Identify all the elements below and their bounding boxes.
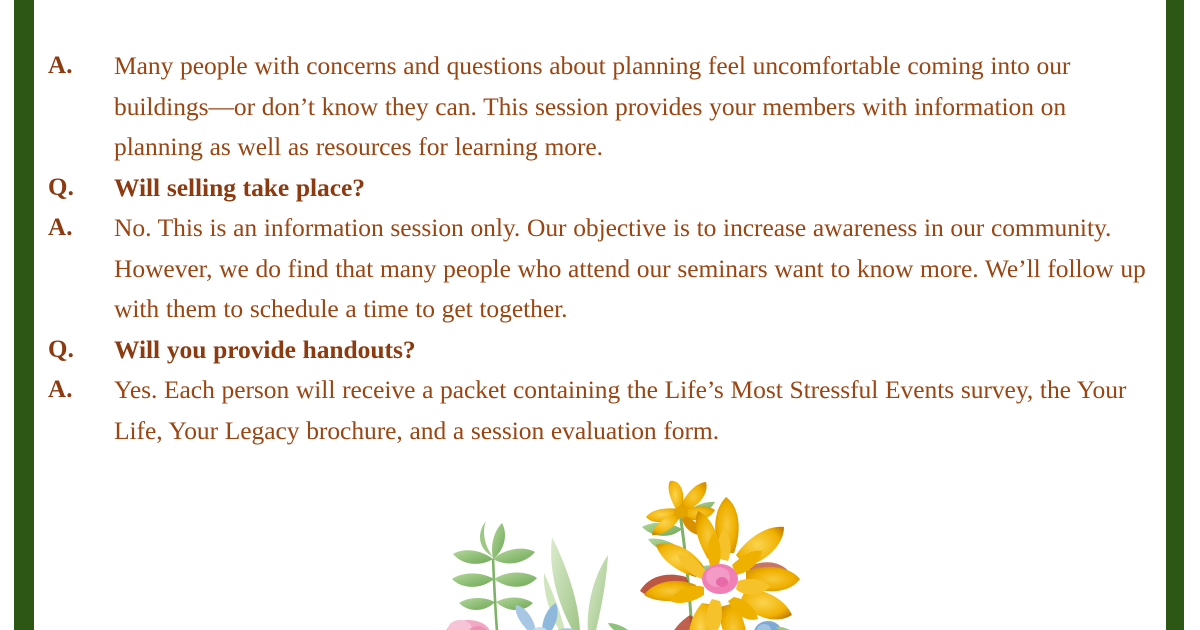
right-border-rule	[1166, 0, 1184, 630]
qa-label: A.	[48, 46, 114, 87]
leaf-sprig-left	[452, 521, 537, 630]
flower-blue-small	[510, 603, 578, 630]
floral-illustration-icon	[390, 455, 810, 630]
flower-gold-large	[640, 497, 800, 630]
qa-label: Q.	[48, 168, 114, 209]
qa-row: A. Many people with concerns and questio…	[48, 46, 1148, 168]
qa-label: A.	[48, 370, 114, 411]
qa-text: Will you provide handouts?	[114, 330, 1148, 371]
leaf-accents-base	[396, 623, 798, 630]
qa-text: Many people with concerns and questions …	[114, 46, 1148, 168]
qa-text: Yes. Each person will receive a packet c…	[114, 370, 1148, 451]
faq-content: A. Many people with concerns and questio…	[48, 46, 1148, 451]
qa-row: A. No. This is an information session on…	[48, 208, 1148, 330]
qa-text: Will selling take place?	[114, 168, 1148, 209]
qa-label: A.	[48, 208, 114, 249]
left-border-rule	[14, 0, 34, 630]
flower-gold-small	[646, 481, 715, 535]
qa-row: A. Yes. Each person will receive a packe…	[48, 370, 1148, 451]
document-page: A. Many people with concerns and questio…	[0, 0, 1200, 630]
qa-text: No. This is an information session only.…	[114, 208, 1148, 330]
qa-label: Q.	[48, 330, 114, 371]
qa-row: Q. Will selling take place?	[48, 168, 1148, 209]
berry-blue-small	[754, 621, 782, 630]
blade-leaves-center	[544, 537, 608, 630]
flower-pink-small	[446, 620, 490, 630]
qa-row: Q. Will you provide handouts?	[48, 330, 1148, 371]
stem-upper	[642, 502, 724, 630]
